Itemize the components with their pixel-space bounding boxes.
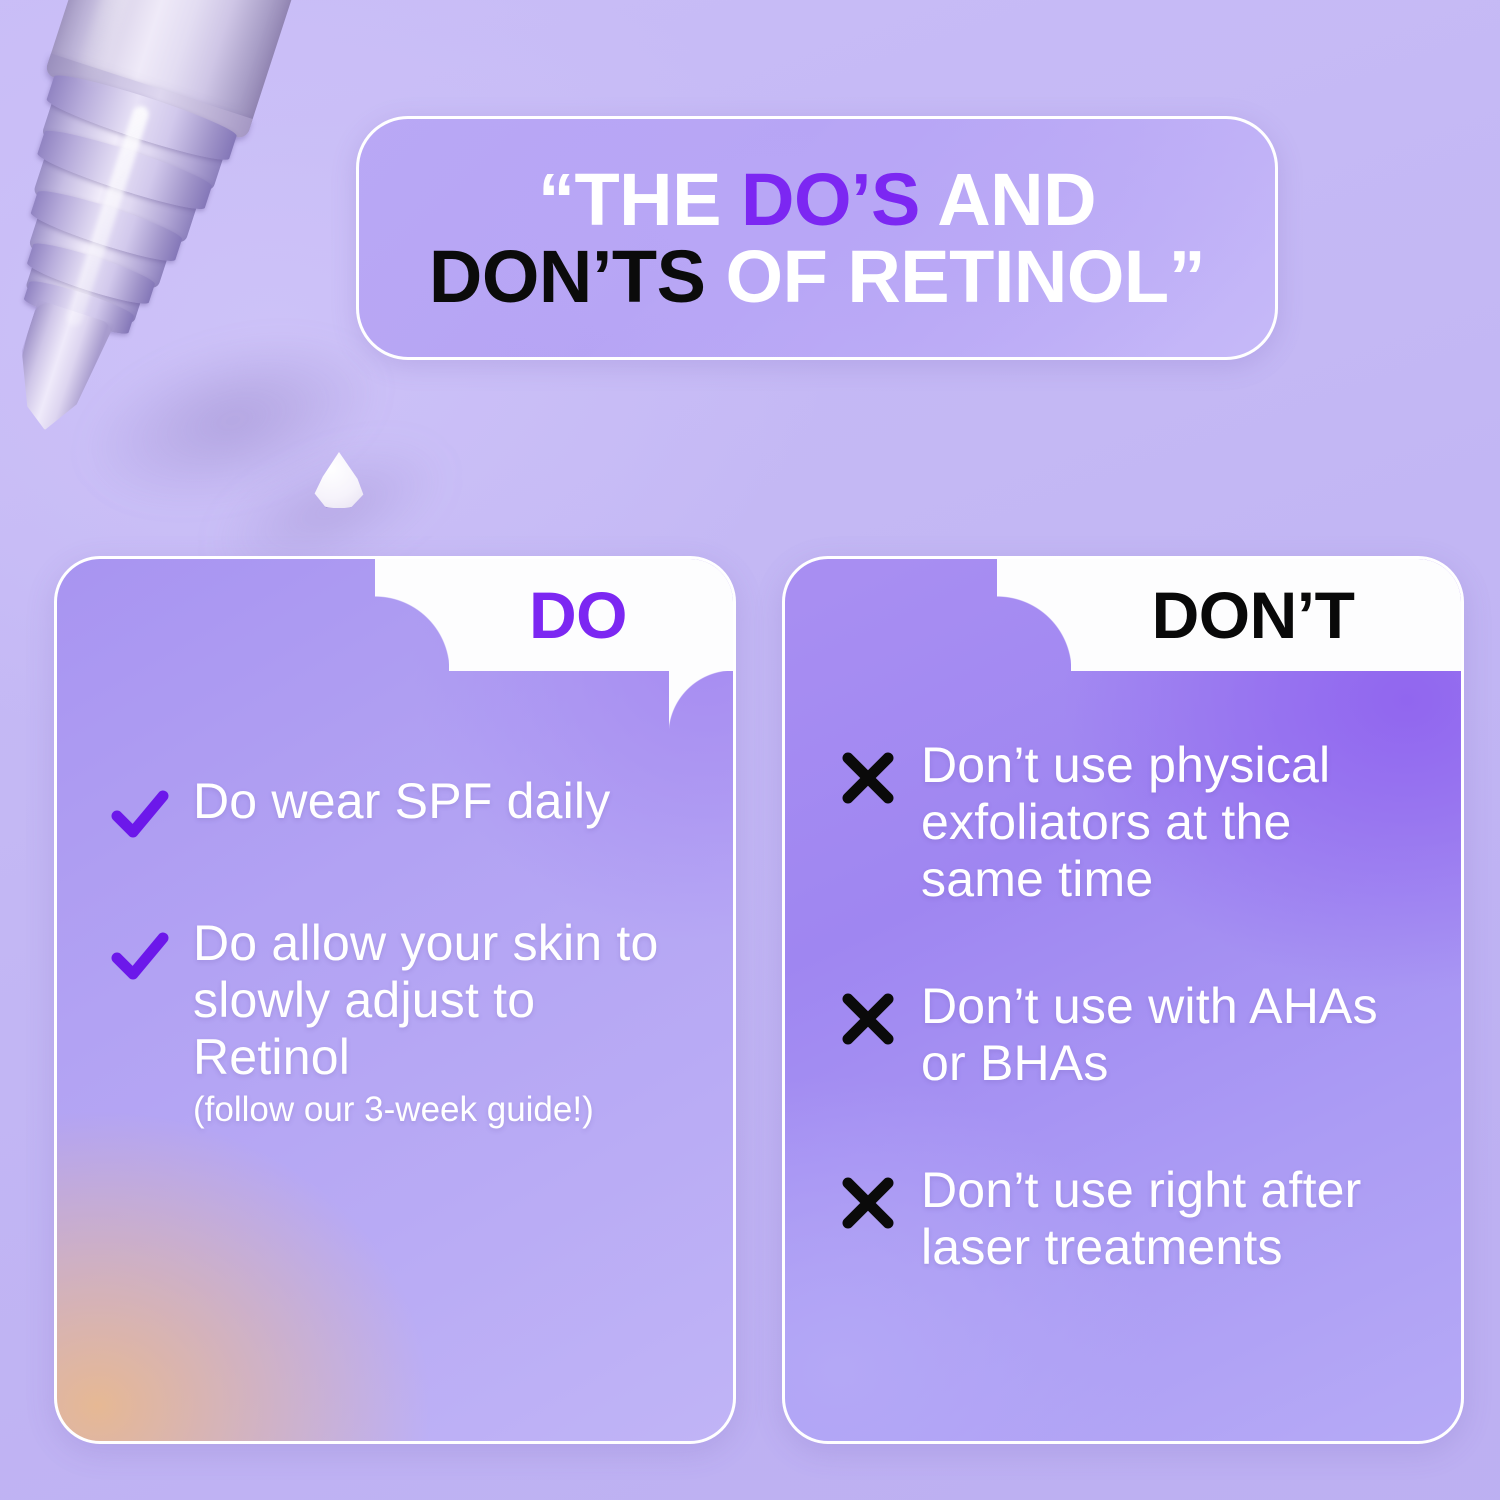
title-banner: “THE DO’S AND DON’TS OF RETINOL” — [356, 116, 1278, 360]
list-item-text-wrap: Do allow your skin to slowly adjust to R… — [193, 915, 691, 1131]
list-item-text: Don’t use physical exfoliators at the sa… — [921, 737, 1419, 908]
x-icon — [837, 988, 899, 1050]
check-icon — [109, 783, 171, 845]
dont-card: DON’T Don’t use physical exfoliators at … — [782, 556, 1464, 1444]
list-item: Don’t use with AHAs or BHAs — [837, 978, 1419, 1092]
do-card: DO Do wear SPF daily Do allow your skin … — [54, 556, 736, 1444]
title-line-2: DON’TS OF RETINOL” — [429, 239, 1205, 314]
do-list: Do wear SPF daily Do allow your skin to … — [57, 773, 733, 1177]
do-card-header-tab: DO — [449, 559, 733, 671]
title-the: THE — [574, 158, 741, 241]
list-item-text: Do wear SPF daily — [193, 773, 610, 830]
tube-nozzle-tip — [1, 300, 115, 441]
list-item-text: Don’t use with AHAs or BHAs — [921, 978, 1419, 1092]
dont-tab-left-notch — [997, 559, 1071, 671]
list-item-text: Don’t use right after laser treatments — [921, 1162, 1419, 1276]
x-icon — [837, 747, 899, 809]
title-line-1: “THE DO’S AND — [538, 162, 1096, 237]
list-item: Do wear SPF daily — [109, 773, 691, 845]
list-item-text: Do allow your skin to slowly adjust to R… — [193, 915, 659, 1085]
title-close-quote: ” — [1169, 235, 1206, 318]
title-of-retinol: OF RETINOL — [705, 235, 1168, 318]
title-open-quote: “ — [538, 158, 575, 241]
list-item: Don’t use right after laser treatments — [837, 1162, 1419, 1276]
dont-card-header-tab: DON’T — [1071, 559, 1461, 671]
dont-card-header-label: DON’T — [1152, 582, 1381, 648]
check-icon — [109, 925, 171, 987]
list-item: Don’t use physical exfoliators at the sa… — [837, 737, 1419, 908]
list-item-subtext: (follow our 3-week guide!) — [193, 1090, 691, 1131]
dont-list: Don’t use physical exfoliators at the sa… — [785, 737, 1461, 1322]
title-and: AND — [920, 158, 1096, 241]
do-card-header-label: DO — [529, 582, 653, 648]
x-icon — [837, 1172, 899, 1234]
do-tab-left-notch — [375, 559, 449, 671]
title-dos: DO’S — [741, 158, 920, 241]
infographic-canvas: “THE DO’S AND DON’TS OF RETINOL” DO Do w… — [0, 0, 1500, 1500]
title-donts: DON’TS — [429, 235, 706, 318]
cream-droplet-icon — [310, 452, 368, 508]
do-tab-under-curve — [669, 671, 733, 735]
list-item: Do allow your skin to slowly adjust to R… — [109, 915, 691, 1131]
